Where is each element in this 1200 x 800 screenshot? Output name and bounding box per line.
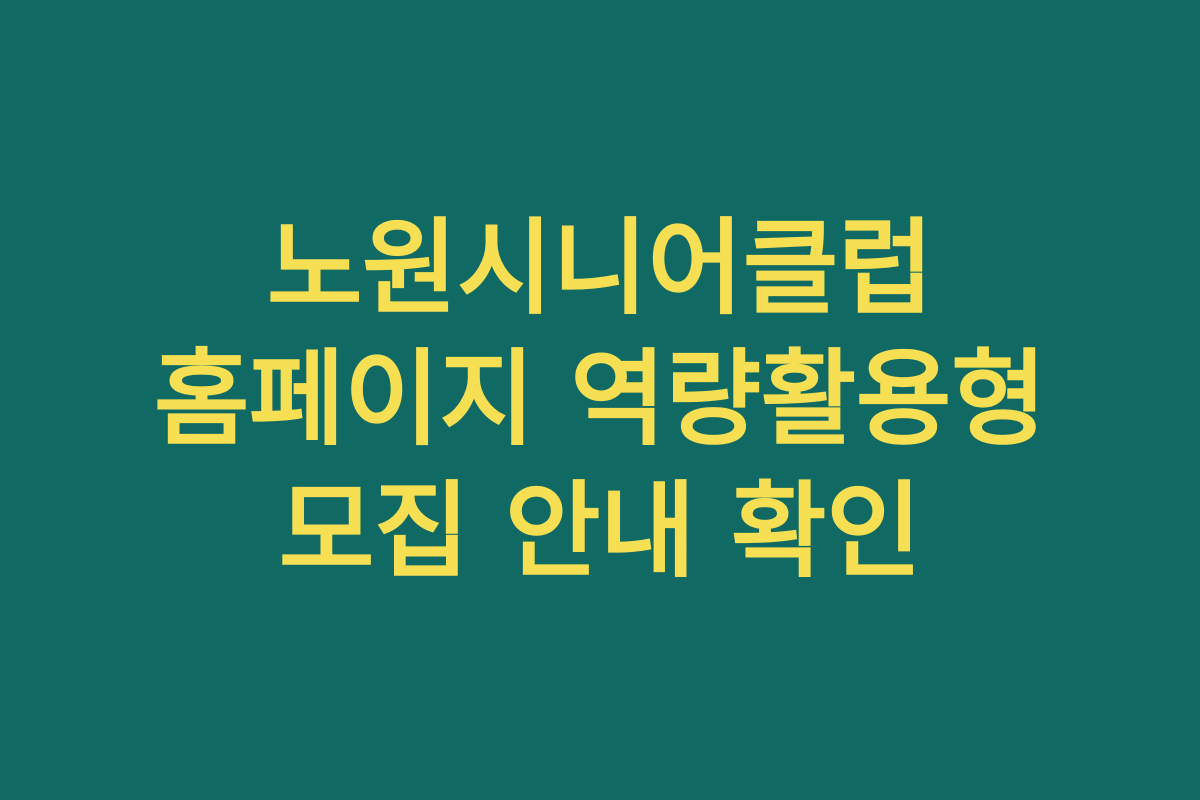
page-title: 노원시니어클럽 홈페이지 역량활용형 모집 안내 확인 <box>70 203 1130 596</box>
text-card: 노원시니어클럽 홈페이지 역량활용형 모집 안내 확인 <box>0 0 1200 800</box>
